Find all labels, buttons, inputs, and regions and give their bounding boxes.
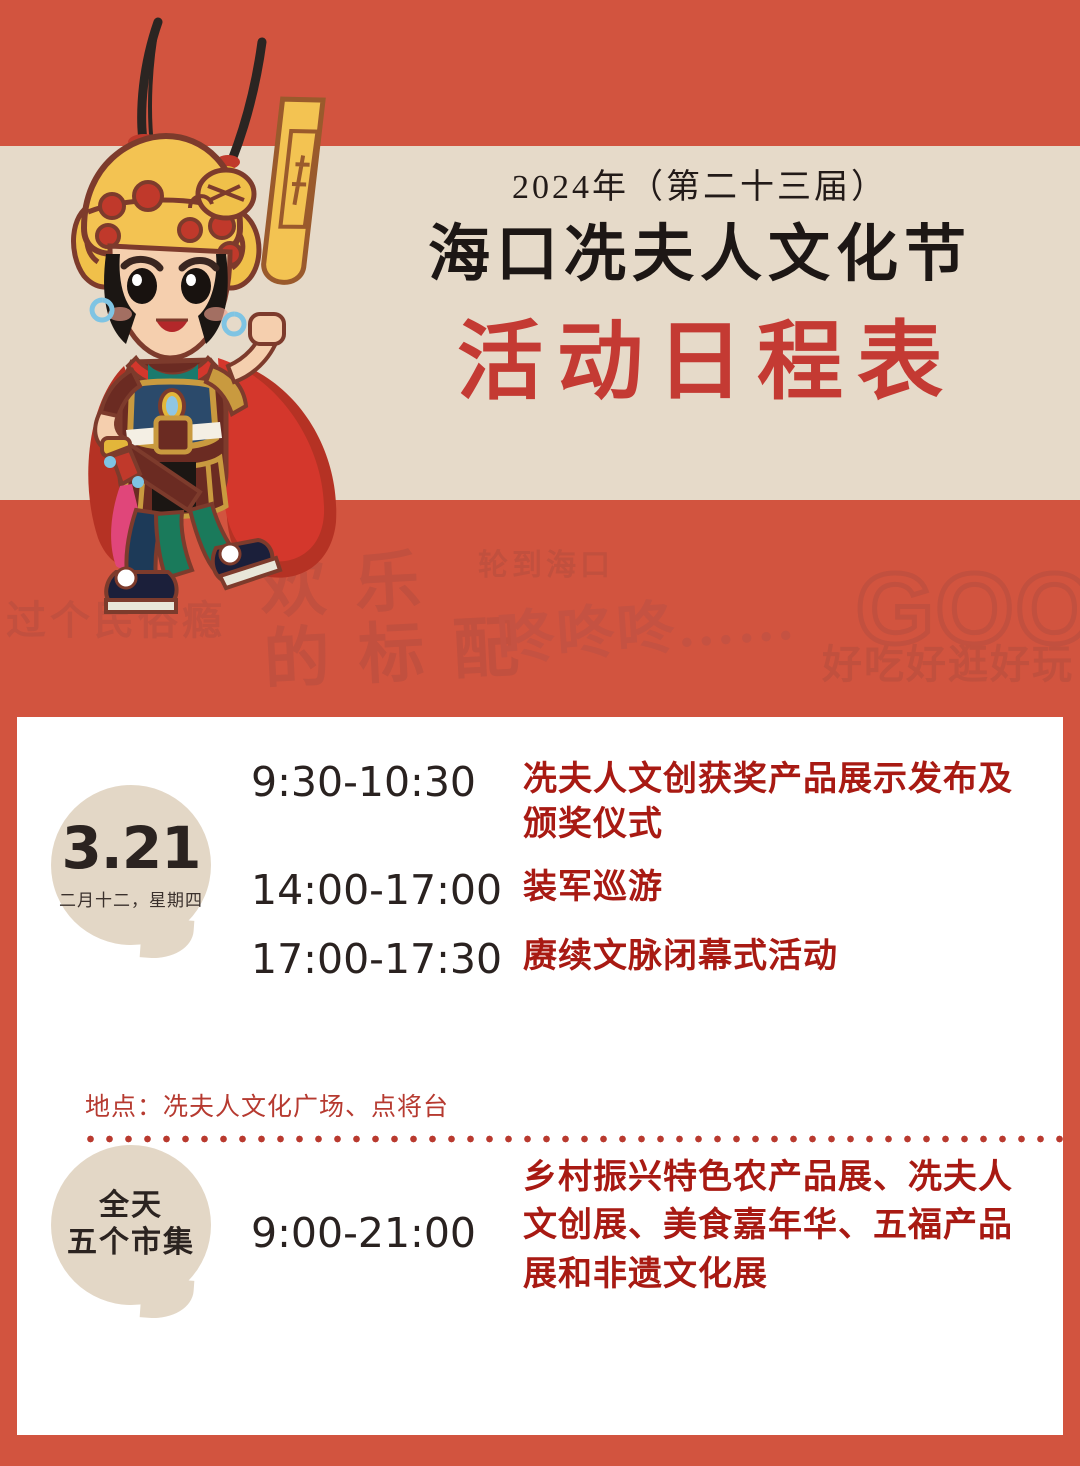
xi-furen-opera-warrior-mascot-icon bbox=[40, 14, 370, 624]
allday-bubble-line2: 五个市集 bbox=[67, 1225, 195, 1262]
allday-bubble-line1: 全天 bbox=[99, 1188, 163, 1225]
event-time: 14:00-17:00 bbox=[251, 865, 523, 916]
event-row: 17:00-17:30 赓续文脉闭幕式活动 bbox=[251, 934, 1041, 985]
date-bubble-lunar: 二月十二，星期四 bbox=[59, 886, 203, 911]
festival-name: 海口冼夫人文化节 bbox=[380, 217, 1020, 295]
date-bubble-0321: 3.21 二月十二，星期四 bbox=[51, 785, 211, 945]
schedule-card: 3.21 二月十二，星期四 9:30-10:30 冼夫人文创获奖产品展示发布及颁… bbox=[17, 717, 1063, 1435]
event-title: 乡村振兴特色农产品展、冼夫人文创展、美食嘉年华、五福产品展和非遗文化展 bbox=[523, 1153, 1035, 1298]
event-time: 17:00-17:30 bbox=[251, 934, 523, 985]
festival-year-line: 2024年（第二十三届） bbox=[380, 168, 1020, 209]
event-title: 装军巡游 bbox=[523, 865, 1041, 910]
event-row: 14:00-17:00 装军巡游 bbox=[251, 865, 1041, 916]
date-bubble-date: 3.21 bbox=[61, 819, 200, 877]
event-place: 地点：冼夫人文化广场、点将台 bbox=[85, 1087, 449, 1123]
page-title: 活动日程表 bbox=[380, 310, 1020, 415]
deco-text-lun-dao-haikou: 轮到海口 bbox=[478, 540, 614, 584]
event-row: 9:30-10:30 冼夫人文创获奖产品展示发布及颁奖仪式 bbox=[251, 757, 1041, 847]
event-time: 9:00-21:00 bbox=[251, 1209, 523, 1257]
event-title: 冼夫人文创获奖产品展示发布及颁奖仪式 bbox=[523, 757, 1041, 847]
section-divider bbox=[81, 1135, 1067, 1143]
event-title: 赓续文脉闭幕式活动 bbox=[523, 934, 1041, 979]
event-list-day1: 9:30-10:30 冼夫人文创获奖产品展示发布及颁奖仪式 14:00-17:0… bbox=[251, 757, 1041, 1002]
deco-text-hao-chi-hao-guang-hao-wan: 好吃好逛好玩 bbox=[822, 632, 1074, 690]
deco-text-dong-dong-dong: 咚咚咚…… bbox=[493, 572, 798, 677]
allday-bubble: 全天 五个市集 bbox=[51, 1145, 211, 1305]
deco-huanle-line2: 的 标 配 bbox=[262, 611, 526, 698]
event-time: 9:30-10:30 bbox=[251, 757, 523, 808]
poster-root: 过个民俗瘾 欢 乐 的 标 配 轮到海口 咚咚咚…… GOOD 好吃好逛好玩 2… bbox=[0, 0, 1080, 1466]
poster-title-block: 2024年（第二十三届） 海口冼夫人文化节 活动日程表 bbox=[380, 168, 1020, 415]
